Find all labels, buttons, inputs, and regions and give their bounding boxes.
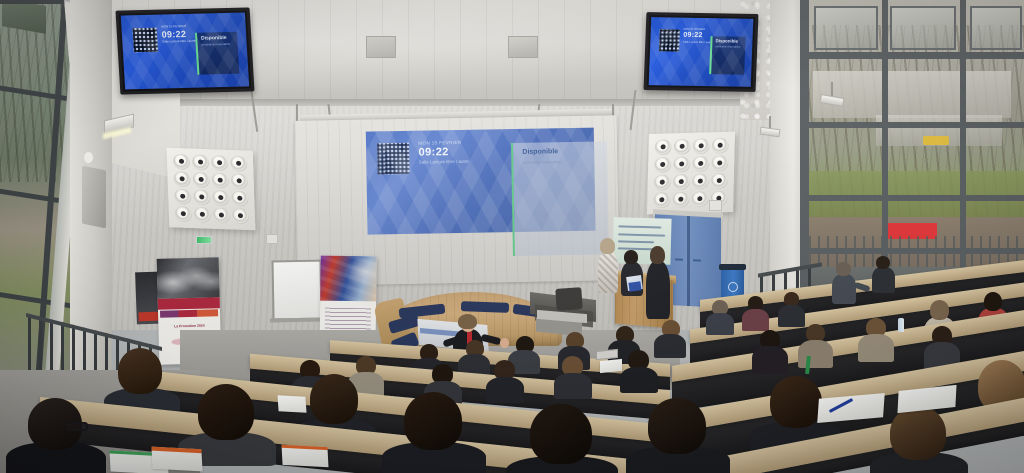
torso [752,346,788,374]
qr-code-icon [377,143,410,175]
head [650,246,665,264]
window-mullion [960,0,966,310]
tilt-window-pane [890,6,956,50]
whiteboard [271,260,322,321]
light-switch[interactable] [709,200,722,211]
head [984,292,1002,311]
banner-photo [157,257,220,299]
tv-clock: 09:22 [683,31,703,38]
door-handle[interactable] [675,258,683,260]
slide-date-label: MON 15 FEVRIER [418,140,461,146]
tv-date-label: MON 15 FEVRIER [161,24,186,29]
banner-color-chips [160,309,217,318]
head [404,392,462,450]
hand [500,338,509,348]
tilt-window-pane [814,6,878,50]
tv-card-subtitle: prochaine reservation [715,45,740,48]
torso [646,261,670,319]
head [118,348,162,394]
display-screen-left[interactable]: MON 15 FEVRIER 09:22 Salle Lecture libre… [115,7,254,94]
torso [486,377,524,403]
head [770,376,822,428]
lecture-hall-photo: MON 15 FEVRIER 09:22 Salle Lecture libre… [0,0,1024,473]
torso [598,251,618,293]
torso [742,309,769,331]
tv-card-subtitle: prochaine reservation [201,42,230,47]
window-mullion [800,0,809,310]
motion-sensor-icon [84,152,93,163]
banner-photo [320,256,377,302]
slide-card-subtitle: prochaine reservation [523,159,562,165]
torso [778,305,805,327]
torso [832,274,856,304]
notebook [277,395,306,413]
head [458,314,477,329]
tv-card-title: Disponible [715,39,738,44]
door-handle[interactable] [693,259,701,261]
window-mullion [800,195,1024,201]
notebook [282,445,329,468]
ceiling-vent [508,36,538,58]
head [624,250,638,264]
tv-subtitle: Salle Lecture libre / autre [162,39,196,44]
qr-code-icon [659,30,679,52]
banner-red-band [158,297,220,309]
tv-clock: 09:22 [161,29,186,40]
glasses-icon [66,422,88,431]
head [198,384,254,440]
torso [798,340,833,368]
bin-lid [719,264,746,270]
tv-date-label: MON 15 FEVRIER [683,27,705,30]
head [310,374,358,424]
head [876,256,890,269]
torso [654,334,686,358]
head [530,404,592,464]
window-mullion [800,52,1024,59]
notebook [151,447,202,472]
tv-screen-content: MON 15 FEVRIER 09:22 Salle Lecture libre… [121,13,249,90]
tv-screen-content: MON 15 FEVRIER 09:22 Salle Lecture libre… [649,17,754,87]
tv-availability-card: Disponible prochaine reservation [195,32,240,74]
slide-availability-card: Disponible prochaine reservation [511,142,610,256]
torso [554,373,592,399]
head [890,406,946,460]
beam-edge [96,99,816,106]
tv-card-title: Disponible [201,35,227,42]
recycle-icon [728,282,738,292]
head [930,300,949,320]
bench-cushion [461,301,509,313]
qr-code-icon [133,28,158,52]
held-document-accent [628,281,641,292]
torso [620,367,658,393]
tv-availability-card: Disponible prochaine reservation [709,36,745,75]
head [784,292,799,306]
tv-subtitle: Salle Lecture libre / autre [683,41,712,45]
head [836,262,851,276]
torso [706,313,734,335]
head [600,238,615,254]
door-split [687,216,690,306]
exit-sign-icon [196,236,212,244]
notebook [600,359,622,373]
banner-headline: La Promotion 2024 [165,323,215,328]
tilt-window-pane [970,6,1022,50]
window-mullion [800,122,1024,128]
head [748,296,763,310]
building-outside [813,71,1010,118]
torso [872,267,895,293]
torso [858,334,894,362]
wall-speaker-left [82,166,106,229]
handwriting-line [618,240,654,243]
slide-card-title: Disponible [522,148,558,156]
acoustic-diffuser-panel-left [167,148,256,231]
chair [555,287,582,311]
window-mullion [800,248,1024,254]
water-bottle [898,318,904,332]
slide-clock: 09:22 [418,146,448,159]
handwriting-line [618,233,666,236]
head [648,398,706,454]
display-screen-right[interactable]: MON 15 FEVRIER 09:22 Salle Lecture libre… [643,12,758,92]
ceiling-vent [366,36,396,58]
window-mullion [0,0,70,4]
handwriting-line [618,226,661,229]
slide-subtitle: Salle Lecture libre / autre [419,158,469,164]
wall-device [266,234,278,244]
vehicle-outside [923,136,949,145]
